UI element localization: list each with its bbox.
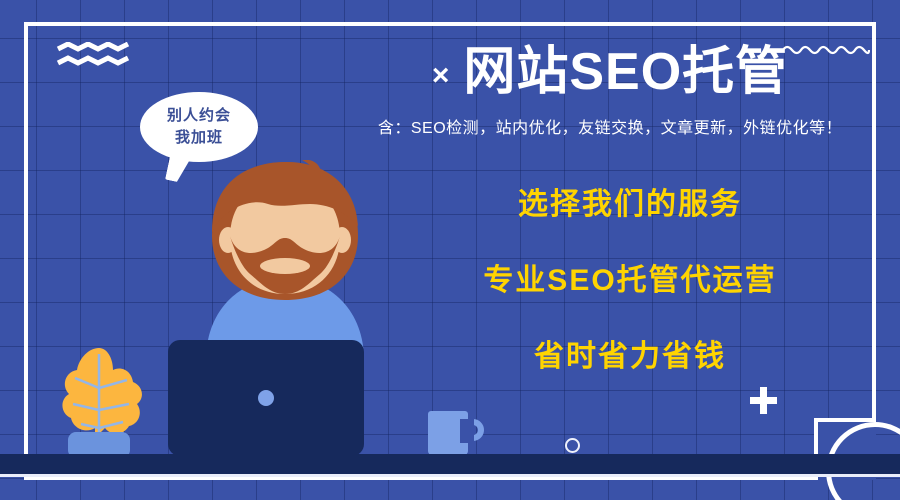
slogan-line-2: 专业SEO托管代运营 [430, 266, 830, 296]
headline-block: × 网站SEO托管 含：SEO检测，站内优化，友链交换，文章更新，外链优化等！ [330, 44, 890, 138]
slogan-list: 选择我们的服务 专业SEO托管代运营 省时省力省钱 [430, 190, 830, 372]
page-title: 网站SEO托管 [463, 44, 788, 100]
laptop-logo-dot [258, 390, 274, 406]
page-subtitle: 含：SEO检测，站内优化，友链交换，文章更新，外链优化等！ [330, 114, 890, 138]
wave-lines-icon [56, 42, 134, 68]
x-mark-icon: × [432, 61, 450, 91]
plus-icon [750, 387, 777, 414]
desk-edge-line [0, 474, 900, 477]
title-row: × 网站SEO托管 [330, 44, 890, 100]
seo-banner: × 网站SEO托管 含：SEO检测，站内优化，友链交换，文章更新，外链优化等！ … [0, 0, 900, 500]
coffee-mug-handle [462, 419, 484, 441]
slogan-line-1: 选择我们的服务 [430, 190, 830, 220]
speech-bubble-line-1: 别人约会 [167, 105, 231, 127]
small-circle-icon [565, 438, 580, 453]
desk-surface [0, 454, 900, 476]
speech-bubble: 别人约会 我加班 [140, 92, 258, 162]
slogan-line-3: 省时省力省钱 [430, 342, 830, 372]
speech-bubble-line-2: 我加班 [175, 127, 223, 149]
